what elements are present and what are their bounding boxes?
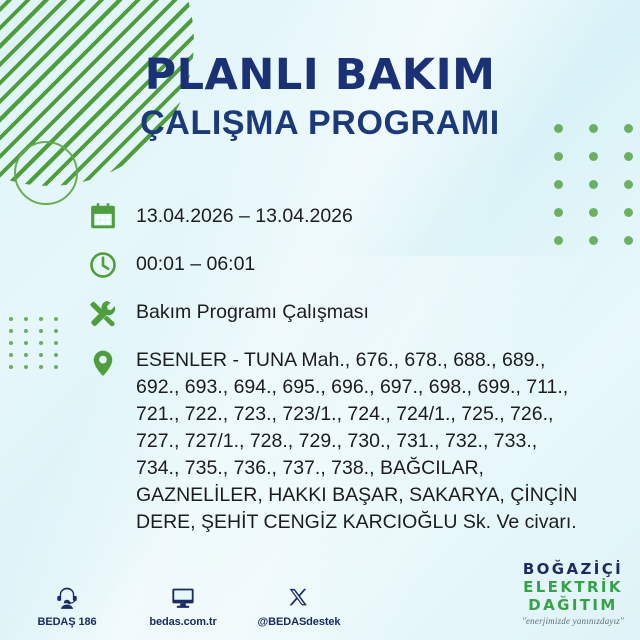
info-row-address: ESENLER - TUNA Mah., 676., 678., 688., 6…: [86, 344, 596, 536]
info-row-worktype: Bakım Programı Çalışması: [86, 296, 596, 330]
info-row-date: 13.04.2026 – 13.04.2026: [86, 200, 596, 234]
page-subtitle: ÇALIŞMA PROGRAMI: [0, 106, 640, 142]
poster-header: PLANLI BAKIM ÇALIŞMA PROGRAMI: [0, 54, 640, 142]
contact-social-label: @BEDASdestek: [258, 616, 341, 628]
headset-support-icon: [54, 581, 80, 611]
info-block: 13.04.2026 – 13.04.2026 00:01 – 06:01: [86, 200, 596, 536]
work-type-value: Bakım Programı Çalışması: [136, 296, 369, 323]
time-range-value: 00:01 – 06:01: [136, 248, 255, 275]
brand-tagline: "enerjimizde yanınızdayız": [522, 617, 624, 626]
date-range-value: 13.04.2026 – 13.04.2026: [136, 200, 353, 227]
contact-social[interactable]: @BEDASdestek: [256, 581, 342, 628]
clock-icon: [86, 248, 120, 282]
calendar-icon: [86, 200, 120, 234]
circle-outline-decoration: [14, 141, 78, 205]
x-twitter-icon: [287, 581, 311, 611]
poster-footer: BEDAŞ 186 bedas.com.tr: [0, 558, 640, 640]
dot-grid-left-decoration: [9, 317, 69, 377]
contact-website[interactable]: bedas.com.tr: [140, 581, 226, 628]
contact-phone-label: BEDAŞ 186: [37, 616, 96, 628]
brand-line-bogazici: BOĞAZİÇİ: [522, 562, 624, 577]
info-row-time: 00:01 – 06:01: [86, 248, 596, 282]
monitor-icon: [169, 581, 197, 611]
contact-website-label: bedas.com.tr: [149, 616, 216, 628]
affected-area-value: ESENLER - TUNA Mah., 676., 678., 688., 6…: [136, 344, 581, 536]
brand-logo: BOĞAZİÇİ ELEKTRİK DAĞITIM "enerjimizde y…: [522, 562, 624, 626]
page-title: PLANLI BAKIM: [0, 54, 640, 97]
contact-list: BEDAŞ 186 bedas.com.tr: [24, 581, 342, 628]
brand-line-elektrik: ELEKTRİK: [522, 580, 624, 595]
map-pin-icon: [86, 346, 120, 380]
tools-icon: [86, 296, 120, 330]
brand-line-dagitim: DAĞITIM: [522, 598, 624, 613]
planned-maintenance-poster: PLANLI BAKIM ÇALIŞMA PROGRAMI 13.04.2026…: [0, 0, 640, 640]
contact-phone[interactable]: BEDAŞ 186: [24, 581, 110, 628]
